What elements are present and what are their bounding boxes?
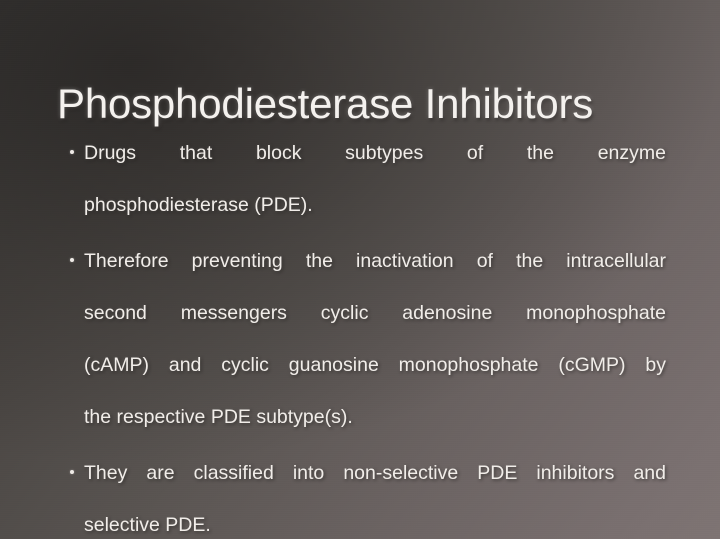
bullet-line: They are classified into non-selective P… [84, 460, 666, 512]
bullet-line: Therefore preventing the inactivation of… [84, 248, 666, 300]
bullet-line: Drugs that block subtypes of the enzyme [84, 140, 666, 192]
bullet-item: Drugs that block subtypes of the enzyme … [70, 140, 666, 218]
round-bullet-icon [70, 258, 74, 262]
slide-title: Phosphodiesterase Inhibitors [57, 80, 593, 128]
round-bullet-icon [70, 470, 74, 474]
bullet-line: selective PDE. [84, 512, 666, 538]
bullet-item: They are classified into non-selective P… [70, 460, 666, 538]
bullet-line: the respective PDE subtype(s). [84, 404, 666, 430]
presentation-slide: Phosphodiesterase Inhibitors Drugs that … [0, 0, 720, 539]
bullet-line: second messengers cyclic adenosine monop… [84, 300, 666, 352]
bullet-line: phosphodiesterase (PDE). [84, 192, 666, 218]
round-bullet-icon [70, 150, 74, 154]
bullet-item: Therefore preventing the inactivation of… [70, 248, 666, 430]
slide-body: Drugs that block subtypes of the enzyme … [70, 140, 666, 538]
bullet-line: (cAMP) and cyclic guanosine monophosphat… [84, 352, 666, 404]
